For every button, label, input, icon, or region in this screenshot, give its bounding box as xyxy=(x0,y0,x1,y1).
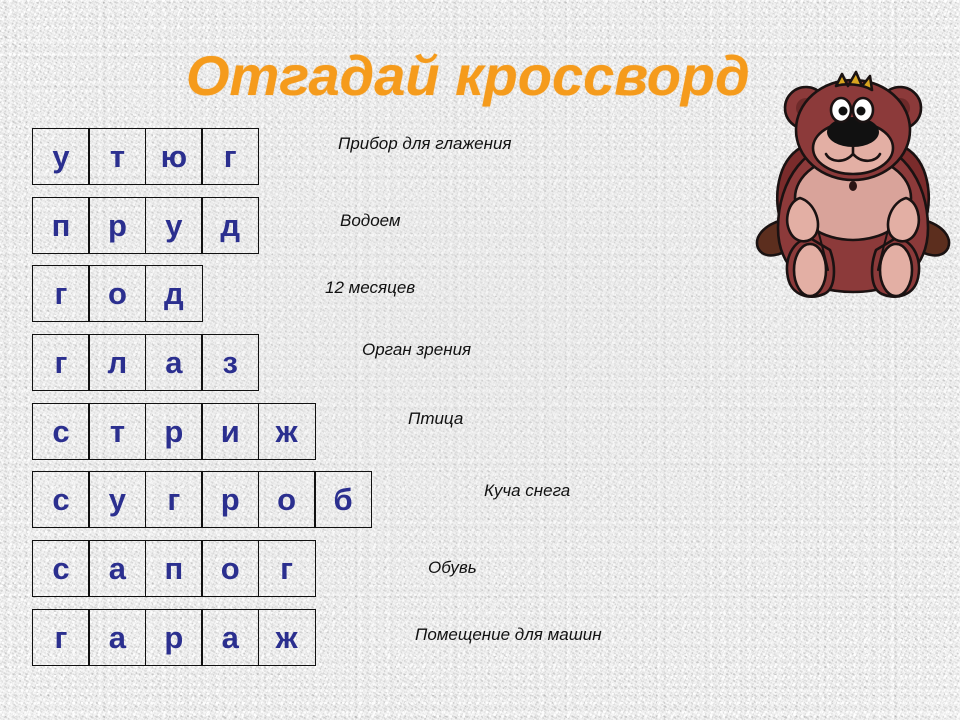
clue-text: Орган зрения xyxy=(362,340,471,360)
crossword-cell[interactable]: г xyxy=(258,540,316,597)
crossword-row-god: г о д xyxy=(32,265,203,322)
bear-left-pupil xyxy=(839,107,848,116)
bear-left-foot-pad xyxy=(794,244,826,296)
crossword-row-utyug: у т ю г xyxy=(32,128,259,185)
crossword-cell[interactable]: а xyxy=(88,540,146,597)
crossword-row-sapog: с а п о г xyxy=(32,540,316,597)
crossword-cell[interactable]: о xyxy=(201,540,259,597)
crossword-cell[interactable]: д xyxy=(145,265,203,322)
clue-text: Птица xyxy=(408,409,463,429)
clue-text: Прибор для глажения xyxy=(338,134,512,154)
clue-text: Куча снега xyxy=(484,481,570,501)
crossword-cell[interactable]: а xyxy=(145,334,203,391)
crossword-cell[interactable]: п xyxy=(145,540,203,597)
crossword-cell[interactable]: р xyxy=(145,403,203,460)
clue-text: Помещение для машин xyxy=(415,625,602,645)
crossword-cell[interactable]: г xyxy=(32,265,90,322)
clue-text: Водоем xyxy=(340,211,401,231)
crossword-row-prud: п р у д xyxy=(32,197,259,254)
crossword-cell[interactable]: д xyxy=(201,197,259,254)
clue-text: 12 месяцев xyxy=(325,278,415,298)
crossword-cell[interactable]: о xyxy=(258,471,316,528)
crossword-cell[interactable]: г xyxy=(201,128,259,185)
crossword-cell[interactable]: р xyxy=(201,471,259,528)
crossword-row-glaz: г л а з xyxy=(32,334,259,391)
bear-navel xyxy=(849,181,857,191)
crossword-cell[interactable]: з xyxy=(201,334,259,391)
crossword-cell[interactable]: с xyxy=(32,540,90,597)
crossword-cell[interactable]: ю xyxy=(145,128,203,185)
crossword-cell[interactable]: о xyxy=(88,265,146,322)
crossword-cell[interactable]: б xyxy=(314,471,372,528)
crossword-cell[interactable]: у xyxy=(88,471,146,528)
page-title: Отгадай кроссворд xyxy=(186,48,750,104)
crossword-cell[interactable]: г xyxy=(145,471,203,528)
bear-illustration xyxy=(748,70,958,305)
crossword-cell[interactable]: п xyxy=(32,197,90,254)
crossword-cell[interactable]: у xyxy=(32,128,90,185)
crossword-cell[interactable]: г xyxy=(32,334,90,391)
bear-right-foot-pad xyxy=(880,244,912,296)
crossword-cell[interactable]: г xyxy=(32,609,90,666)
crossword-cell[interactable]: с xyxy=(32,403,90,460)
crossword-cell[interactable]: ж xyxy=(258,403,316,460)
bear-right-pupil xyxy=(857,107,866,116)
crossword-cell[interactable]: а xyxy=(201,609,259,666)
bear-nose xyxy=(827,117,879,147)
crossword-cell[interactable]: л xyxy=(88,334,146,391)
crossword-cell[interactable]: ж xyxy=(258,609,316,666)
crossword-cell[interactable]: у xyxy=(145,197,203,254)
crossword-cell[interactable]: р xyxy=(145,609,203,666)
crossword-cell[interactable]: с xyxy=(32,471,90,528)
crossword-row-sugrob: с у г р о б xyxy=(32,471,372,528)
crossword-row-strizh: с т р и ж xyxy=(32,403,316,460)
crossword-cell[interactable]: т xyxy=(88,128,146,185)
crossword-cell[interactable]: р xyxy=(88,197,146,254)
crossword-row-garazh: г а р а ж xyxy=(32,609,316,666)
crossword-cell[interactable]: а xyxy=(88,609,146,666)
slide-canvas: Отгадай кроссворд у т ю г п р у д г о д … xyxy=(0,0,960,720)
crossword-cell[interactable]: и xyxy=(201,403,259,460)
crossword-cell[interactable]: т xyxy=(88,403,146,460)
clue-text: Обувь xyxy=(428,558,477,578)
